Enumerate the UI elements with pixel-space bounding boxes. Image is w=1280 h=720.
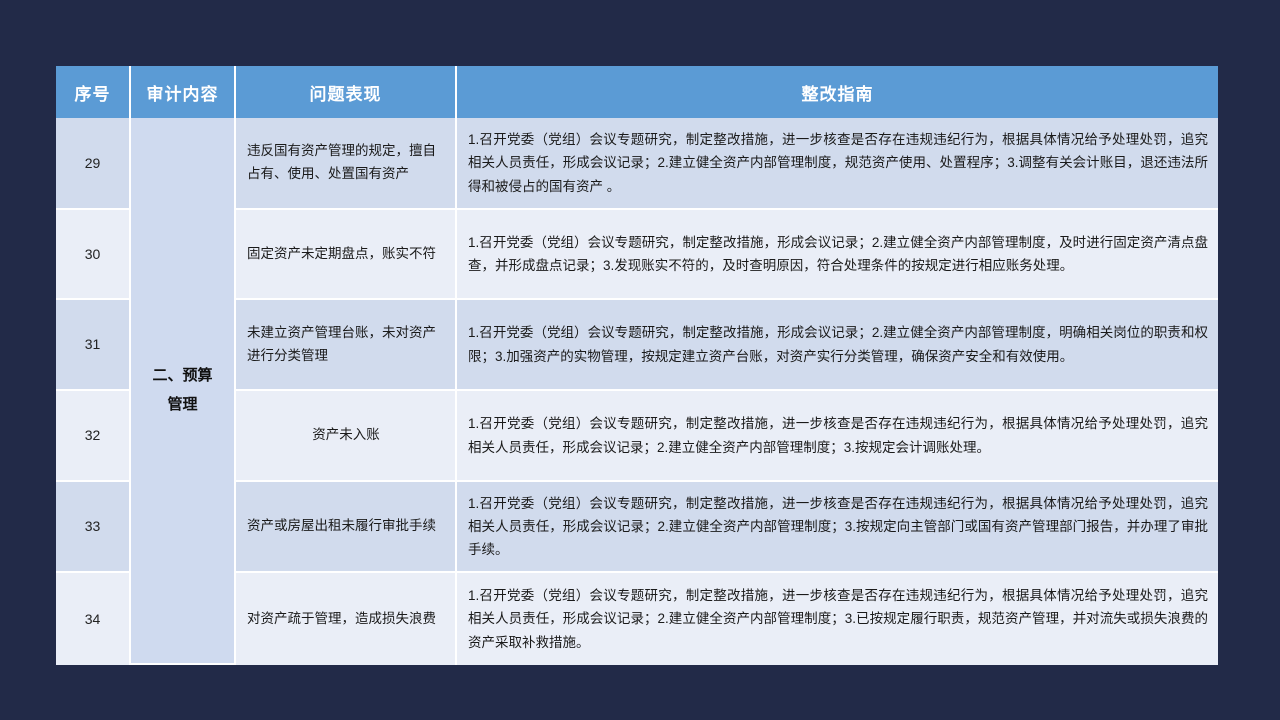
audit-category-line-2: 管理: [167, 396, 197, 413]
table-header-row: 序号 审计内容 问题表现 整改指南: [56, 66, 1218, 118]
cell-problem: 固定资产未定期盘点，账实不符: [236, 210, 457, 300]
audit-category-line-1: 二、预算: [152, 367, 212, 384]
table-header: 序号 审计内容 问题表现 整改指南: [56, 66, 1218, 118]
cell-serial-number: 31: [56, 300, 131, 391]
cell-serial-number: 34: [56, 573, 131, 665]
cell-guidance: 1.召开党委（党组）会议专题研究，制定整改措施，进一步核查是否存在违规违纪行为，…: [457, 118, 1218, 210]
table-body: 29 二、预算 管理 违反国有资产管理的规定，擅自占有、使用、处置国有资产 1.…: [56, 118, 1218, 665]
cell-guidance: 1.召开党委（党组）会议专题研究，制定整改措施，形成会议记录；2.建立健全资产内…: [457, 300, 1218, 391]
cell-guidance: 1.召开党委（党组）会议专题研究，制定整改措施，进一步核查是否存在违规违纪行为，…: [457, 482, 1218, 573]
cell-guidance: 1.召开党委（党组）会议专题研究，制定整改措施，进一步核查是否存在违规违纪行为，…: [457, 391, 1218, 482]
cell-serial-number: 29: [56, 118, 131, 210]
cell-audit-category: 二、预算 管理: [131, 118, 236, 665]
column-header-category: 审计内容: [131, 66, 236, 118]
cell-problem: 违反国有资产管理的规定，擅自占有、使用、处置国有资产: [236, 118, 457, 210]
cell-guidance: 1.召开党委（党组）会议专题研究，制定整改措施，进一步核查是否存在违规违纪行为，…: [457, 573, 1218, 665]
cell-serial-number: 32: [56, 391, 131, 482]
slide-canvas: 序号 审计内容 问题表现 整改指南 29 二、预算 管理 违反国有资产管理的规定…: [0, 0, 1280, 720]
cell-problem: 未建立资产管理台账，未对资产进行分类管理: [236, 300, 457, 391]
column-header-no: 序号: [56, 66, 131, 118]
column-header-problem: 问题表现: [236, 66, 457, 118]
column-header-guide: 整改指南: [457, 66, 1218, 118]
cell-problem: 资产未入账: [236, 391, 457, 482]
cell-problem: 对资产疏于管理，造成损失浪费: [236, 573, 457, 665]
audit-remediation-table: 序号 审计内容 问题表现 整改指南 29 二、预算 管理 违反国有资产管理的规定…: [56, 66, 1218, 665]
audit-table-container: 序号 审计内容 问题表现 整改指南 29 二、预算 管理 违反国有资产管理的规定…: [56, 66, 1218, 665]
cell-serial-number: 33: [56, 482, 131, 573]
table-row: 29 二、预算 管理 违反国有资产管理的规定，擅自占有、使用、处置国有资产 1.…: [56, 118, 1218, 210]
cell-serial-number: 30: [56, 210, 131, 300]
cell-problem: 资产或房屋出租未履行审批手续: [236, 482, 457, 573]
cell-guidance: 1.召开党委（党组）会议专题研究，制定整改措施，形成会议记录；2.建立健全资产内…: [457, 210, 1218, 300]
